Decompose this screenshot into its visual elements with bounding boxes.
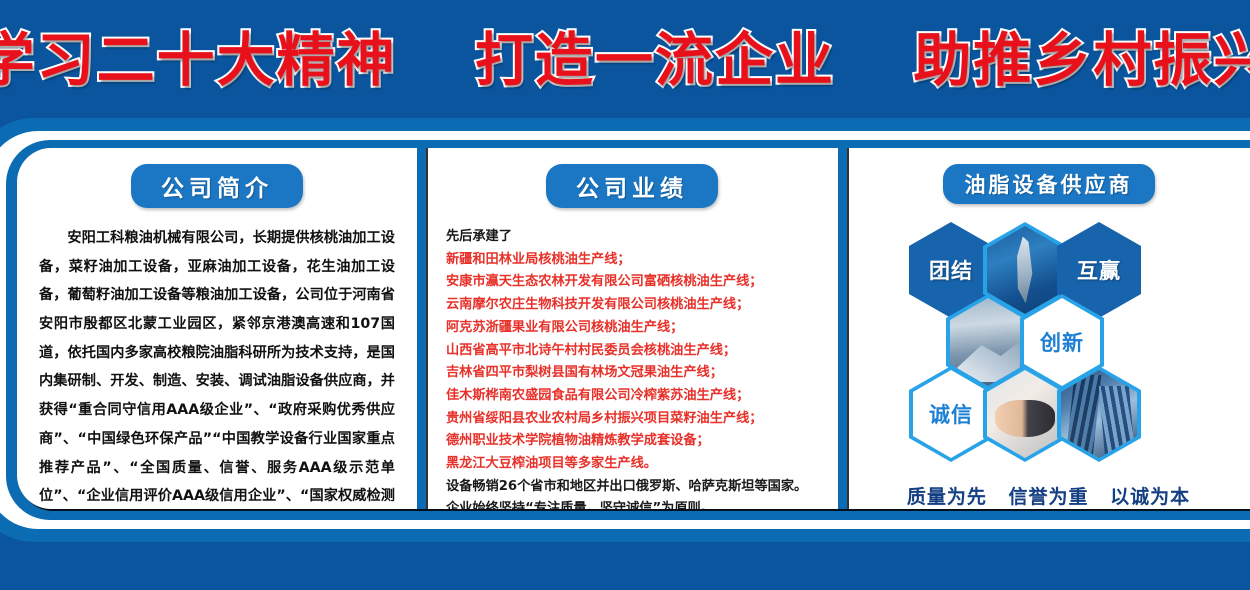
project-line: 安康市瀛天生态农林开发有限公司富硒核桃油生产线； <box>446 271 818 294</box>
project-lines: 新疆和田林业局核桃油生产线；安康市瀛天生态农林开发有限公司富硒核桃油生产线；云南… <box>446 249 818 476</box>
panel-supplier-values: 油脂设备供应商 团结 互赢 创新 诚信 <box>847 148 1250 509</box>
project-line: 阿克苏浙疆果业有限公司核桃油生产线； <box>446 317 818 340</box>
project-line: 佳木斯桦南农盛园食品有限公司冷榨紫苏油生产线； <box>446 385 818 408</box>
content-area: 公司简介 安阳工科粮油机械有限公司，长期提供核桃油加工设备，菜籽油加工设备，亚麻… <box>17 148 1250 509</box>
panel-divider-2 <box>838 148 847 509</box>
panel1-header-pill: 公司简介 <box>131 164 303 208</box>
panel3-header-pill: 油脂设备供应商 <box>943 164 1155 204</box>
hex-innovation-label: 创新 <box>1040 327 1084 357</box>
panel-divider-1 <box>417 148 426 509</box>
panel1-header-wrap: 公司简介 <box>39 164 395 208</box>
project-line: 德州职业技术学院植物油精炼教学成套设备； <box>446 430 818 453</box>
banner-title-part3: 助推乡村振兴 <box>913 26 1250 94</box>
performance-lead: 先后承建了 <box>446 226 818 249</box>
project-line: 黑龙江大豆榨油项目等多家生产线。 <box>446 453 818 476</box>
performance-footer-1: 设备畅销26个省市和地区并出口俄罗斯、哈萨克斯坦等国家。 <box>446 476 818 499</box>
project-line: 云南摩尔农庄生物科技开发有限公司核桃油生产线； <box>446 294 818 317</box>
project-line: 山西省高平市北诗午村村民委员会核桃油生产线； <box>446 340 818 363</box>
slogan-part-2: 信誉为重 <box>1008 482 1088 509</box>
banner: 学习二十大精神 打造一流企业 助推乡村振兴 <box>0 0 1250 110</box>
banner-title: 学习二十大精神 打造一流企业 助推乡村振兴 <box>0 13 1250 97</box>
panel-company-performance: 公司业绩 先后承建了 新疆和田林业局核桃油生产线；安康市瀛天生态农林开发有限公司… <box>426 148 838 509</box>
hex-integrity-label: 诚信 <box>929 399 973 429</box>
hexagon-cluster: 团结 互赢 创新 诚信 <box>861 216 1236 478</box>
values-slogan: 质量为先 信誉为重 以诚为本 用户至上 <box>861 482 1236 509</box>
handshake-image <box>987 370 1063 458</box>
building-image <box>1061 370 1137 458</box>
slogan-part-3: 以诚为本 <box>1110 482 1190 509</box>
hex-mutual-win-label: 互赢 <box>1077 255 1121 285</box>
panel3-header-wrap: 油脂设备供应商 <box>861 164 1236 204</box>
banner-title-part1: 学习二十大精神 <box>0 26 397 94</box>
slogan-part-1: 质量为先 <box>907 482 987 509</box>
project-line: 新疆和田林业局核桃油生产线； <box>446 249 818 272</box>
panel2-header-pill: 公司业绩 <box>546 164 718 208</box>
performance-list: 先后承建了 新疆和田林业局核桃油生产线；安康市瀛天生态农林开发有限公司富硒核桃油… <box>446 226 818 509</box>
panel-company-profile: 公司简介 安阳工科粮油机械有限公司，长期提供核桃油加工设备，菜籽油加工设备，亚麻… <box>17 148 417 509</box>
project-line: 吉林省四平市梨树县国有林场文冠果油生产线； <box>446 362 818 385</box>
company-profile-text: 安阳工科粮油机械有限公司，长期提供核桃油加工设备，菜籽油加工设备，亚麻油加工设备… <box>39 224 395 509</box>
performance-footer-2: 企业始终坚持“专注质量，坚守诚信”为原则。 <box>446 498 818 509</box>
panel2-header-wrap: 公司业绩 <box>446 164 818 208</box>
hex-unity-label: 团结 <box>929 255 973 285</box>
project-line: 贵州省绥阳县农业农村局乡村振兴项目菜籽油生产线； <box>446 408 818 431</box>
banner-title-part2: 打造一流企业 <box>475 26 835 94</box>
